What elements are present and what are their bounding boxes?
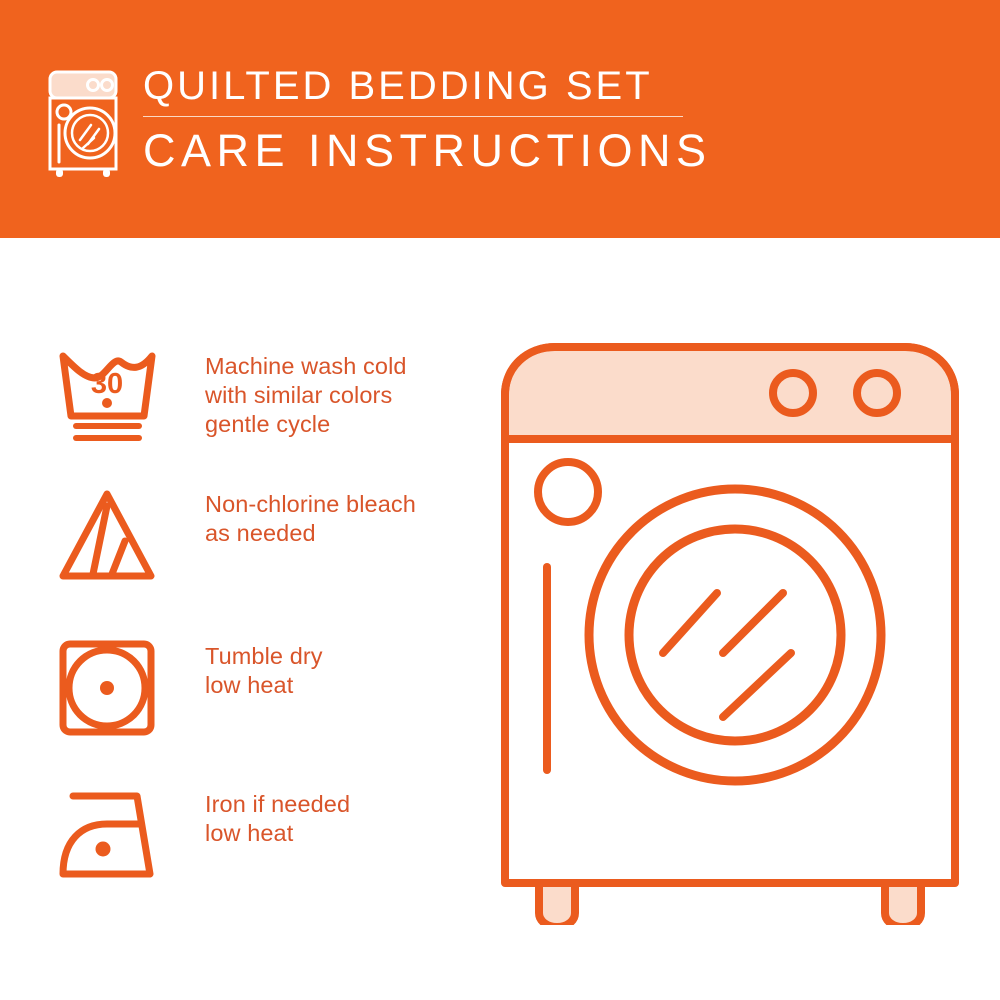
care-text-iron: Iron if needed low heat (205, 786, 350, 848)
wash-temperature-label: 30 (91, 368, 123, 400)
care-text-wash: Machine wash cold with similar colors ge… (205, 348, 407, 439)
care-instructions-page: QUILTED BEDDING SET CARE INSTRUCTIONS 30… (0, 0, 1000, 1000)
leg-left (539, 883, 575, 925)
leg-right (885, 883, 921, 925)
header-banner: QUILTED BEDDING SET CARE INSTRUCTIONS (0, 0, 1000, 238)
wash-tub-30-icon: 30 (55, 348, 160, 448)
page-title-secondary: CARE INSTRUCTIONS (143, 126, 763, 176)
care-instructions-list: 30 Machine wash cold with similar colors… (0, 238, 500, 1000)
care-text-dry: Tumble dry low heat (205, 638, 323, 700)
care-row-wash: 30 Machine wash cold with similar colors… (55, 348, 485, 448)
washing-machine-icon (45, 70, 127, 178)
header-title-block: QUILTED BEDDING SET CARE INSTRUCTIONS (143, 62, 763, 176)
title-divider (143, 116, 683, 117)
tumble-dry-square-icon (55, 638, 160, 738)
washing-machine-illustration (495, 335, 965, 925)
care-text-bleach: Non-chlorine bleach as needed (205, 486, 416, 548)
triangle-stripes-icon (55, 486, 160, 586)
care-row-bleach: Non-chlorine bleach as needed (55, 486, 485, 586)
iron-icon (55, 786, 160, 886)
page-title-primary: QUILTED BEDDING SET (143, 62, 763, 110)
care-row-dry: Tumble dry low heat (55, 638, 485, 738)
care-row-iron: Iron if needed low heat (55, 786, 485, 886)
